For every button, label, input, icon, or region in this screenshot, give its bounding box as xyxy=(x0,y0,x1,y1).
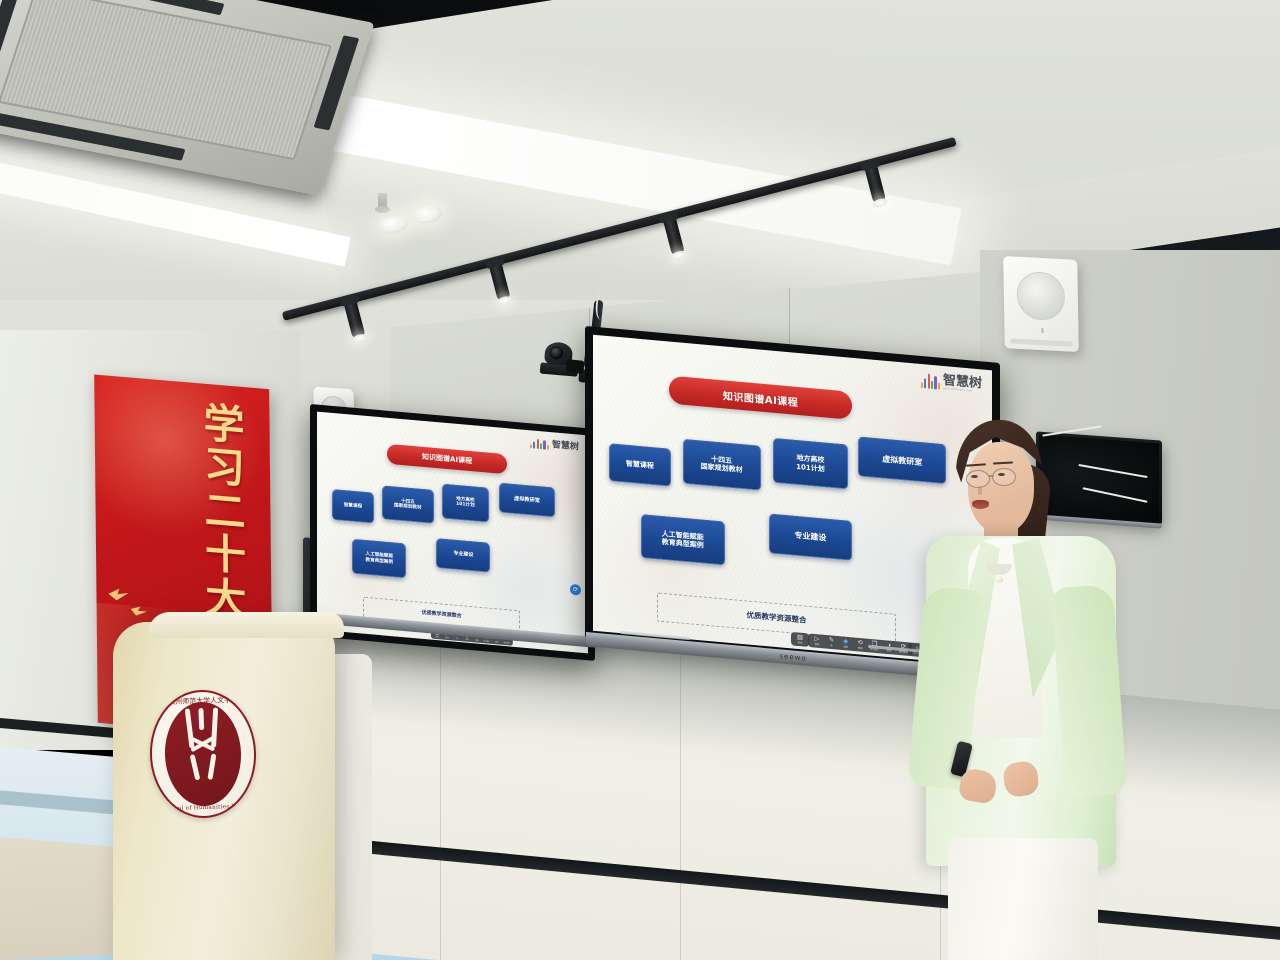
banner-text: 学习二十大 xyxy=(195,401,255,623)
secondary-floating-button[interactable]: ⟳ xyxy=(570,584,581,596)
camera-bracket xyxy=(565,359,584,374)
wall-speaker-right xyxy=(1003,256,1079,352)
sprinkler-head xyxy=(378,193,387,209)
secondary-node-4: 虚拟教研室 xyxy=(499,482,556,517)
slide-title: 知识图谱AI课程 xyxy=(669,376,853,420)
slide-footer: 优质教学资源整合 xyxy=(657,592,896,643)
presenter-nose xyxy=(978,486,982,495)
slide-title-text: 知识图谱AI课程 xyxy=(723,387,798,409)
toolbar-highlighter-button[interactable]: ◆ 画笔 xyxy=(840,638,853,649)
slide-node-101-plan: 地方高校 101计划 xyxy=(773,438,849,489)
secondary-slide-title-text: 知识图谱AI课程 xyxy=(422,452,472,466)
zhihuishu-logo: 智慧树 www.zhihuishu.com xyxy=(921,372,982,393)
crest-glyph xyxy=(184,707,221,782)
toolbar-pen-button[interactable]: ✎ 笔 xyxy=(826,637,839,648)
slide-node-major-building: 专业建设 xyxy=(769,513,853,560)
presenter-mouth xyxy=(972,500,989,509)
presenter xyxy=(908,418,1148,960)
necklace-pendant xyxy=(996,576,1003,583)
glasses-bridge xyxy=(989,475,994,477)
slide-node-textbook: 十四五 国家规划教材 xyxy=(683,439,761,490)
secondary-node-2: 十四五 国家规划教材 xyxy=(382,485,433,524)
slide-node-smart-course: 智慧课程 xyxy=(609,443,671,487)
display-brand: seewo xyxy=(779,652,806,662)
slide-node-ai-cases: 人工智能赋能 教育典型案例 xyxy=(641,514,725,566)
lectern-top xyxy=(148,612,344,638)
secondary-node-3: 地方高校 101计划 xyxy=(442,484,489,523)
toolbar-undo-button[interactable]: ⟲ 撤销 xyxy=(854,639,867,650)
zhihuishu-logo: 智慧树 xyxy=(530,437,579,452)
lecture-hall-scene: 学习二十大 xyxy=(0,0,1280,960)
secondary-slide-title: 知识图谱AI课程 xyxy=(387,444,506,474)
toolbar-menu-button[interactable]: ▤ 菜单 xyxy=(791,632,809,647)
secondary-node-1: 智慧课程 xyxy=(332,489,374,523)
secondary-node-6: 专业建设 xyxy=(436,538,490,573)
zhihuishu-logo-name: 智慧树 xyxy=(552,441,579,452)
presenter-trousers xyxy=(948,838,1098,960)
toolbar-select-button[interactable]: ▷ 选择 xyxy=(811,635,824,646)
glasses-lens-right xyxy=(992,468,1016,486)
secondary-node-5: 人工智能赋能 教育典型案例 xyxy=(352,539,406,579)
